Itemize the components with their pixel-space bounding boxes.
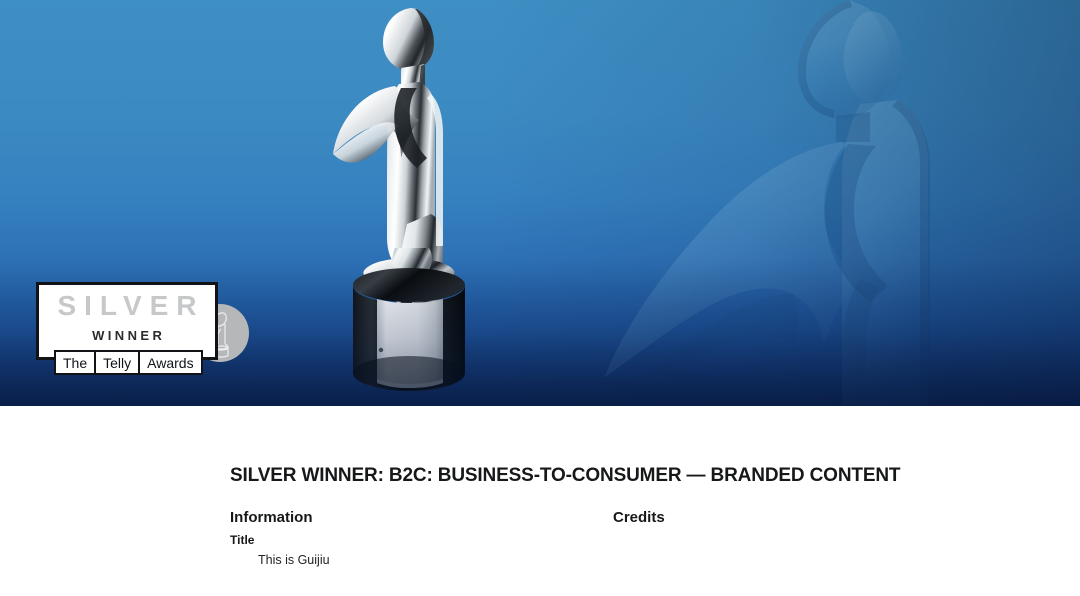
credits-column: Credits — [613, 510, 996, 568]
telly-award-statue-watermark-icon — [598, 0, 1028, 406]
telly-award-statue-icon — [333, 2, 485, 397]
award-content-section: SILVER WINNER: B2C: BUSINESS-TO-CONSUMER… — [0, 406, 1080, 596]
badge-brand-cell-awards: Awards — [138, 352, 200, 373]
field-label-title: Title — [230, 533, 613, 547]
badge-winner-label: WINNER — [39, 329, 215, 342]
information-field-title: Title This is Guijiu — [230, 533, 613, 568]
badge-brand-cell-telly: Telly — [94, 352, 138, 373]
badge-award-level: SILVER — [39, 292, 215, 320]
award-detail-page: SILVER WINNER The Telly Awards SILVER WI… — [0, 0, 1080, 596]
field-value-title: This is Guijiu — [230, 547, 613, 568]
award-category-heading: SILVER WINNER: B2C: BUSINESS-TO-CONSUMER… — [230, 466, 900, 485]
badge-white-box: SILVER WINNER — [36, 282, 218, 360]
information-column: Information Title This is Guijiu — [230, 510, 613, 568]
badge-brand-cell-the: The — [56, 352, 94, 373]
telly-silver-winner-badge: SILVER WINNER The Telly Awards — [36, 282, 249, 376]
award-detail-columns: Information Title This is Guijiu Credits — [230, 510, 1040, 568]
badge-brand-bar: The Telly Awards — [54, 350, 203, 375]
credits-heading: Credits — [613, 510, 996, 527]
information-heading: Information — [230, 510, 613, 527]
hero-banner: SILVER WINNER The Telly Awards — [0, 0, 1080, 406]
